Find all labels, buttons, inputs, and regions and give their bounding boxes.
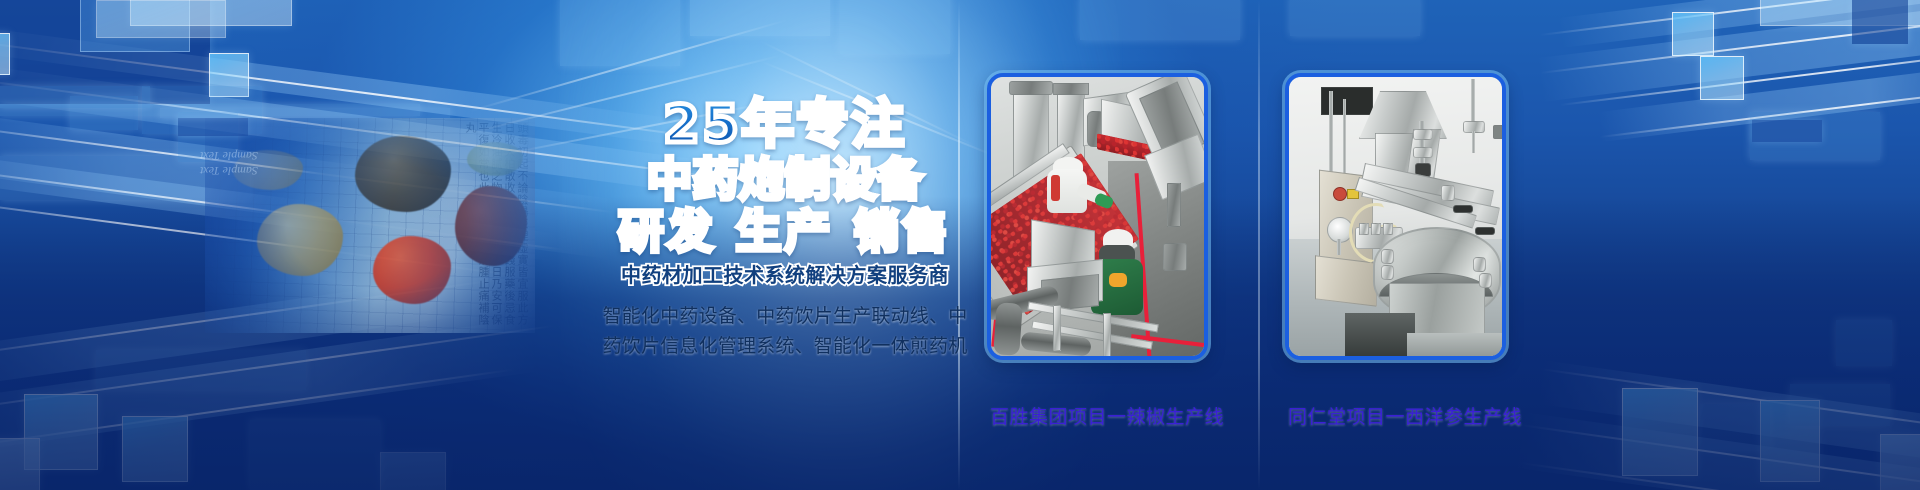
- vertical-divider-right: [1258, 0, 1260, 490]
- tagline: 中药材加工技术系统解决方案服务商: [600, 262, 970, 288]
- watermark-sample-text: Sample Text Sample Text: [200, 148, 258, 178]
- headline-line-3: 研发 生产 销售: [600, 206, 970, 258]
- headline-block: 25年专注 中药炮制设备 研发 生产 销售 中药材加工技术系统解决方案服务商 智…: [600, 96, 970, 361]
- photo-card-ginseng-production-line[interactable]: [1285, 73, 1506, 360]
- photo-chili-production-line: [991, 77, 1204, 356]
- photo-caption-chili: 百胜集团项目一辣椒生产线: [990, 405, 1224, 429]
- photo-ginseng-production-line: [1289, 77, 1502, 356]
- promo-banner: 頭毒初起不論陰陽表裡虛實皆宜服此方日收大柏散收人參三十一錢服藥後忌食生冷油膩之物…: [0, 0, 1920, 490]
- headline-line-1: 25年专注: [600, 96, 970, 154]
- photo-caption-ginseng: 同仁堂项目一西洋参生产线: [1288, 405, 1522, 429]
- photo-card-chili-production-line[interactable]: [987, 73, 1208, 360]
- headline-line-2: 中药炮制设备: [600, 154, 970, 206]
- description: 智能化中药设备、中药饮片生产联动线、中药饮片信息化管理系统、智能化一体煎药机: [600, 301, 970, 361]
